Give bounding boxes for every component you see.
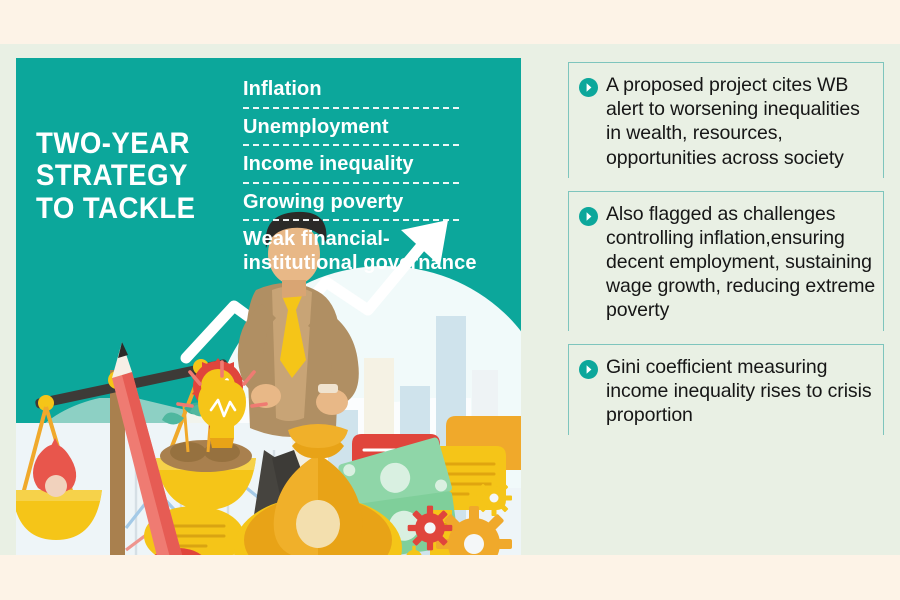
key-point-item: A proposed project cites WB alert to wor… — [568, 62, 884, 178]
issue-list-divider — [243, 219, 459, 221]
circle-chevron-right-icon — [579, 207, 598, 231]
top-cream-band — [0, 0, 900, 44]
key-point-item: Gini coefficient measuring income inequa… — [568, 344, 884, 436]
circle-chevron-right-icon — [579, 360, 598, 384]
key-point-text: Also flagged as challenges controlling i… — [606, 202, 877, 323]
page-title-line-3: TO TACKLE — [36, 193, 211, 225]
issue-list: Inflation Unemployment Income inequality… — [243, 76, 493, 281]
page-title-line-1: TWO-YEAR — [36, 128, 211, 160]
page-title-line-2: STRATEGY — [36, 160, 211, 192]
key-point-item: Also flagged as challenges controlling i… — [568, 191, 884, 331]
infographic-canvas: TWO-YEAR STRATEGY TO TACKLE Inflation Un… — [0, 0, 900, 600]
key-points-column: A proposed project cites WB alert to wor… — [568, 62, 884, 448]
issue-list-item: Weak financial-institutional governance — [243, 226, 493, 280]
bottom-cream-band — [0, 555, 900, 600]
issue-list-item: Growing poverty — [243, 189, 493, 220]
issue-list-divider — [243, 182, 459, 184]
issue-list-divider — [243, 107, 459, 109]
page-title: TWO-YEAR STRATEGY TO TACKLE — [36, 128, 211, 225]
illustration-card: TWO-YEAR STRATEGY TO TACKLE Inflation Un… — [16, 58, 521, 555]
issue-list-item: Inflation — [243, 76, 493, 107]
circle-chevron-right-icon — [579, 78, 598, 102]
issue-list-divider — [243, 144, 459, 146]
issue-list-item: Income inequality — [243, 151, 493, 182]
key-point-text: A proposed project cites WB alert to wor… — [606, 73, 877, 170]
issue-list-item: Unemployment — [243, 114, 493, 145]
key-point-text: Gini coefficient measuring income inequa… — [606, 355, 877, 428]
